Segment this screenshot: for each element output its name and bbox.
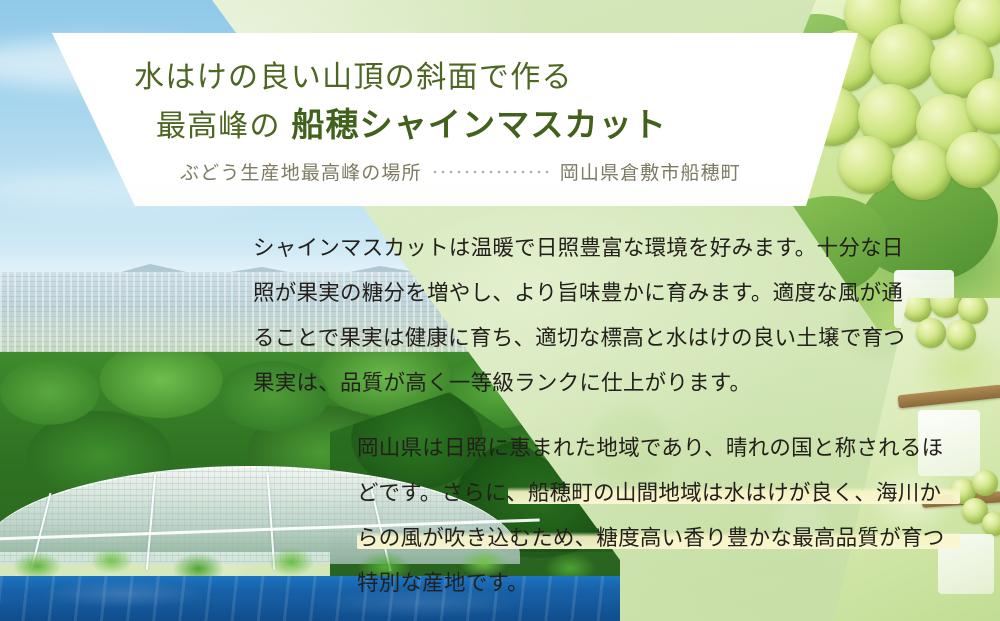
body-paragraph-1: シャインマスカットは温暖で日照豊富な環境を好みます。十分な日照が果実の糖分を増や… [253,226,913,406]
body-paragraph-2: 岡山県は日照に恵まれた地域であり、晴れの国と称されるほどです。さらに、船穂町の山… [357,426,957,606]
promo-banner: 水はけの良い山頂の斜面で作る 最高峰の 船穂シャインマスカット ぶどう生産地最高… [0,0,1000,621]
body-copy-group: シャインマスカットは温暖で日照豊富な環境を好みます。十分な日照が果実の糖分を増や… [0,0,1000,621]
